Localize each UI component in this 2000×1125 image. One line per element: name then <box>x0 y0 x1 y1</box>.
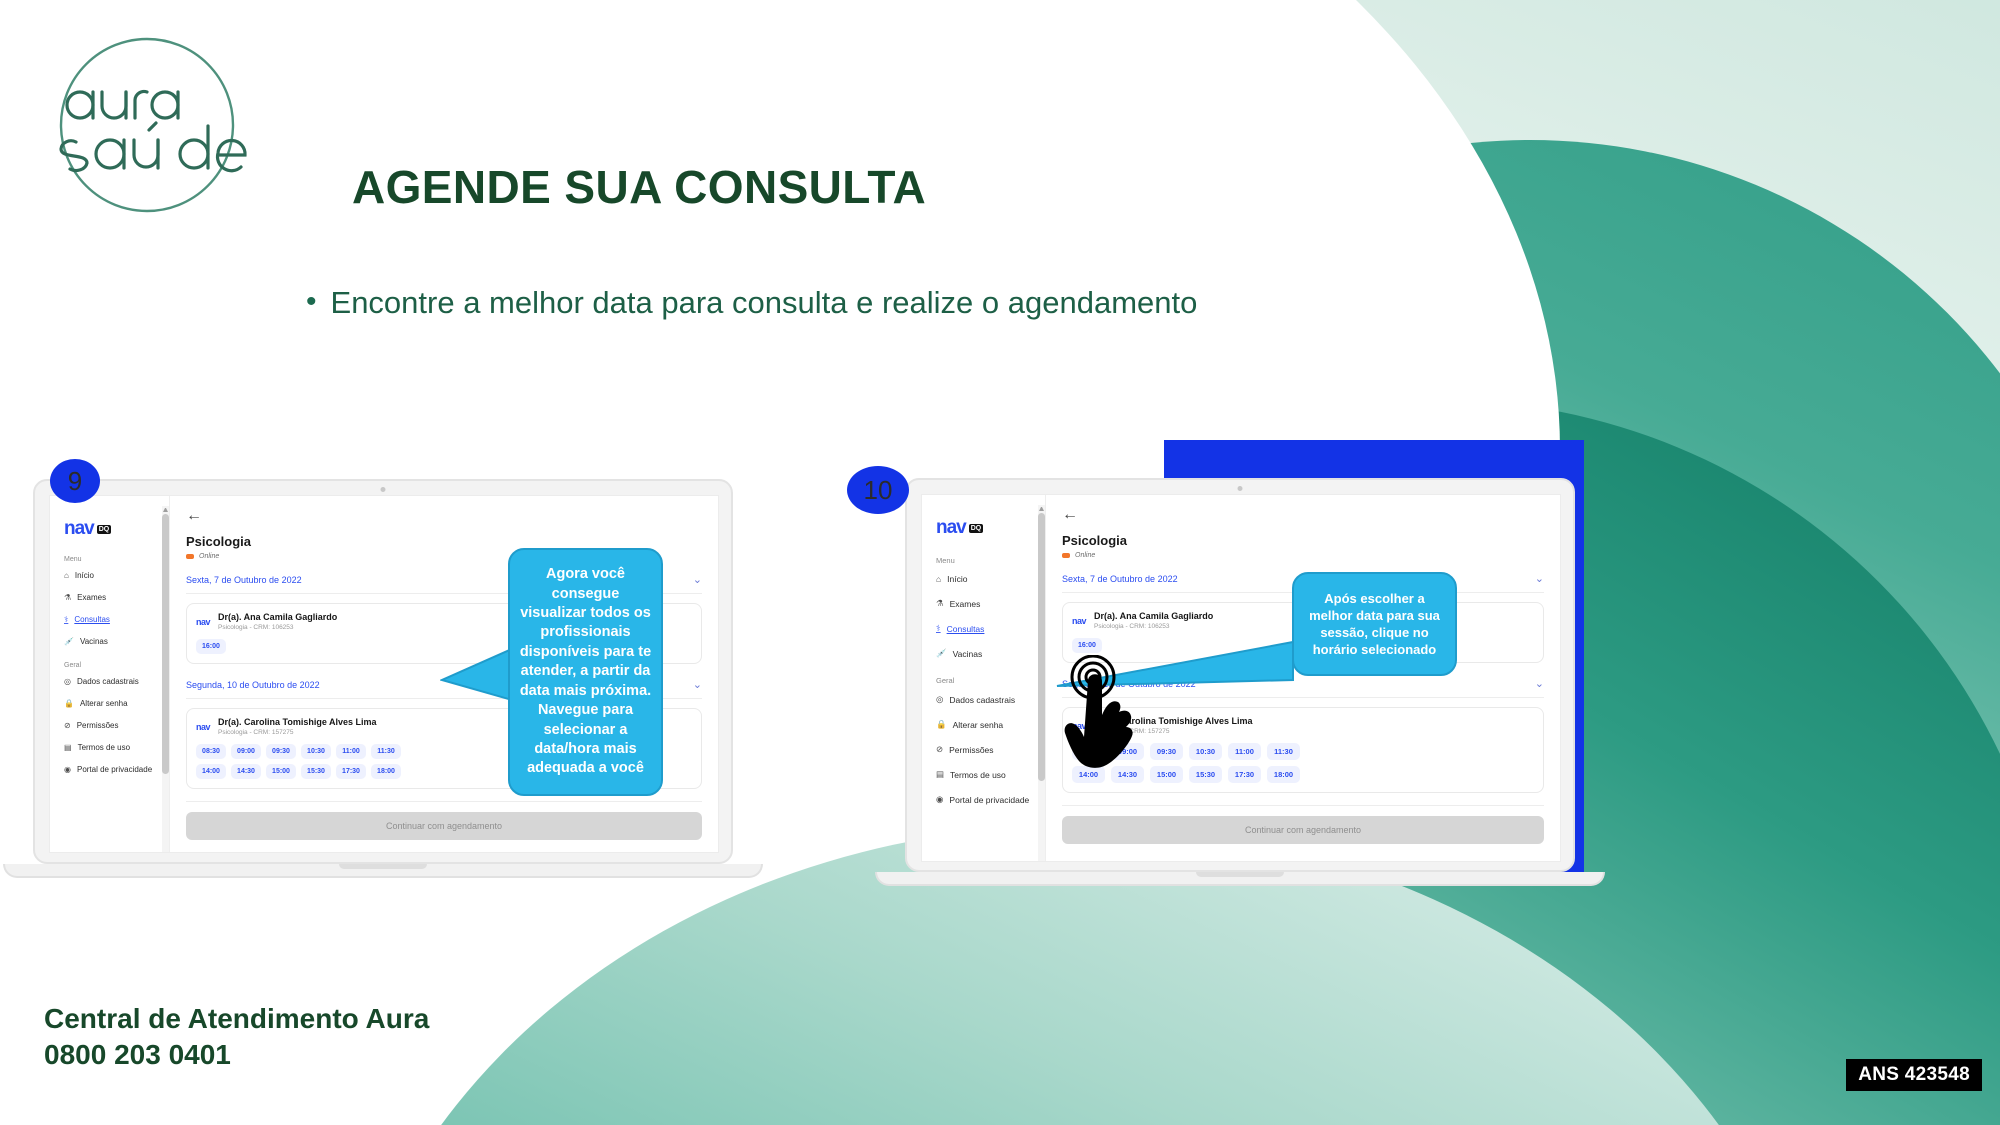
time-slot[interactable]: 18:00 <box>371 764 401 779</box>
check-circle-icon: ⊘ <box>64 721 71 730</box>
lock-icon: 🔒 <box>64 699 74 708</box>
sidebar-item-label: Vacinas <box>80 637 108 646</box>
date-label: Segunda, 10 de Outubro de 2022 <box>186 680 320 690</box>
sidebar-item-label: Consultas <box>947 624 985 634</box>
sidebar-item-label: Dados cadastrais <box>949 695 1015 705</box>
laptop-notch <box>339 864 427 869</box>
specialty-title: Psicologia <box>1062 533 1544 548</box>
time-slot[interactable]: 14:00 <box>196 764 226 779</box>
specialty-title: Psicologia <box>186 534 702 549</box>
time-slot[interactable]: 15:30 <box>301 764 331 779</box>
doctor-nav-logo: nav <box>196 722 210 732</box>
lock-icon: 🔒 <box>936 719 947 730</box>
eye-icon: ◉ <box>64 765 71 774</box>
callout-left: Agora você consegue visualizar todos os … <box>508 548 663 796</box>
sidebar-item-label: Vacinas <box>953 649 983 659</box>
nav-logo-text: nav <box>64 518 94 540</box>
footer-line-2: 0800 203 0401 <box>44 1037 429 1073</box>
nav-app-logo: nav DQ <box>936 517 1045 539</box>
doctor-name: Dr(a). Ana Camila Gagliardo <box>218 612 337 622</box>
sidebar-caption-menu: Menu <box>936 556 1045 565</box>
eye-icon: ◉ <box>936 794 943 805</box>
sidebar-item-dados-cadastrais[interactable]: ◎ Dados cadastrais <box>64 677 169 686</box>
time-slot[interactable]: 14:30 <box>231 764 261 779</box>
date-label: Sexta, 7 de Outubro de 2022 <box>186 575 302 585</box>
time-slot[interactable]: 11:00 <box>1228 743 1261 760</box>
sidebar-item-label: Dados cadastrais <box>77 677 139 686</box>
time-slot[interactable]: 11:30 <box>371 744 401 759</box>
time-slot[interactable]: 08:30 <box>196 744 226 759</box>
sidebar-caption-menu: Menu <box>64 556 169 563</box>
bullet-text: Encontre a melhor data para consulta e r… <box>331 285 1198 321</box>
sidebar-item-inicio[interactable]: ⌂ Início <box>64 571 169 580</box>
doctor-detail: Psicologia - CRM: 157275 <box>218 729 377 736</box>
page-title: AGENDE SUA CONSULTA <box>352 160 926 214</box>
user-circle-icon: ◎ <box>936 694 943 705</box>
time-slot[interactable]: 10:30 <box>301 744 331 759</box>
hand-cursor-icon <box>1060 655 1150 785</box>
video-camera-icon <box>186 554 194 559</box>
sidebar-scrollbar[interactable] <box>162 506 169 852</box>
document-icon: ▤ <box>936 769 944 780</box>
doctor-nav-logo: nav <box>196 617 210 627</box>
date-label: Sexta, 7 de Outubro de 2022 <box>1062 574 1178 584</box>
modality-row: Online <box>1062 552 1544 559</box>
sidebar-item-label: Portal de privacidade <box>949 795 1029 805</box>
app-sidebar-right: nav DQ Menu ⌂ Início ⚗ Exames <box>922 495 1046 861</box>
sidebar-item-alterar-senha[interactable]: 🔒 Alterar senha <box>936 719 1045 730</box>
continue-scheduling-button[interactable]: Continuar com agendamento <box>186 812 702 840</box>
back-arrow-icon[interactable]: ← <box>186 508 702 524</box>
doctor-detail: Psicologia - CRM: 106253 <box>1094 623 1213 630</box>
section-divider <box>1062 805 1544 806</box>
sidebar-item-label: Exames <box>950 599 981 609</box>
sidebar-item-label: Início <box>75 571 94 580</box>
sidebar-item-vacinas[interactable]: 💉 Vacinas <box>64 637 169 646</box>
sidebar-item-label: Alterar senha <box>953 720 1004 730</box>
webcam-dot <box>1238 486 1243 491</box>
home-icon: ⌂ <box>64 571 69 580</box>
check-circle-icon: ⊘ <box>936 744 943 755</box>
aura-saude-logo <box>36 30 258 226</box>
slide-content: AGENDE SUA CONSULTA • Encontre a melhor … <box>0 0 2000 1125</box>
time-slot[interactable]: 15:00 <box>1150 766 1183 783</box>
sidebar-item-label: Portal de privacidade <box>77 765 152 774</box>
sidebar-item-label: Termos de uso <box>78 743 130 752</box>
scroll-up-arrow-icon[interactable] <box>163 508 168 512</box>
sidebar-item-label: Alterar senha <box>80 699 128 708</box>
sidebar-item-consultas[interactable]: ⚕ Consultas <box>936 623 1045 634</box>
callout-right: Após escolher a melhor data para sua ses… <box>1292 572 1457 676</box>
webcam-dot <box>381 487 386 492</box>
nav-logo-mark: DQ <box>97 525 112 534</box>
time-slot[interactable]: 17:30 <box>336 764 366 779</box>
app-sidebar-left: nav DQ Menu ⌂ Início ⚗ Exames <box>50 496 170 852</box>
time-slot[interactable]: 11:00 <box>336 744 366 759</box>
sidebar-scrollbar[interactable] <box>1038 505 1045 861</box>
modality-label: Online <box>1075 552 1095 559</box>
laptop-base <box>875 872 1605 886</box>
sidebar-item-alterar-senha[interactable]: 🔒 Alterar senha <box>64 699 169 708</box>
time-slot[interactable]: 10:30 <box>1189 743 1222 760</box>
sidebar-item-label: Termos de uso <box>950 770 1006 780</box>
sidebar-caption-geral: Geral <box>64 662 169 669</box>
footer-contact: Central de Atendimento Aura 0800 203 040… <box>44 1001 429 1073</box>
step-badge-9: 9 <box>50 459 100 503</box>
chevron-down-icon[interactable]: ⌄ <box>693 678 702 691</box>
sidebar-item-consultas[interactable]: ⚕ Consultas <box>64 615 169 624</box>
bullet-line: • Encontre a melhor data para consulta e… <box>306 285 1197 321</box>
footer-line-1: Central de Atendimento Aura <box>44 1001 429 1037</box>
sidebar-caption-geral: Geral <box>936 676 1045 685</box>
home-icon: ⌂ <box>936 574 941 584</box>
sidebar-item-exames[interactable]: ⚗ Exames <box>936 598 1045 609</box>
sidebar-item-label: Início <box>947 574 967 584</box>
doctor-nav-logo: nav <box>1072 616 1086 626</box>
time-slot[interactable]: 16:00 <box>196 639 226 654</box>
nav-logo-mark: DQ <box>969 524 984 533</box>
flask-icon: ⚗ <box>64 593 71 602</box>
syringe-icon: 💉 <box>64 637 74 646</box>
document-icon: ▤ <box>64 743 72 752</box>
bullet-marker-icon: • <box>306 287 317 317</box>
nav-app-logo: nav DQ <box>64 518 169 540</box>
sidebar-item-termos-de-uso[interactable]: ▤ Termos de uso <box>936 769 1045 780</box>
sidebar-item-exames[interactable]: ⚗ Exames <box>64 593 169 602</box>
chevron-down-icon[interactable]: ⌄ <box>693 573 702 586</box>
ans-badge: ANS 423548 <box>1846 1059 1982 1091</box>
doctor-name: Dr(a). Ana Camila Gagliardo <box>1094 611 1213 621</box>
time-slot[interactable]: 18:00 <box>1267 766 1300 783</box>
flask-icon: ⚗ <box>936 598 944 609</box>
laptop-base <box>3 864 763 878</box>
sidebar-item-permissoes[interactable]: ⊘ Permissões <box>64 721 169 730</box>
sidebar-item-termos-de-uso[interactable]: ▤ Termos de uso <box>64 743 169 752</box>
time-slot[interactable]: 09:00 <box>231 744 261 759</box>
sidebar-item-permissoes[interactable]: ⊘ Permissões <box>936 744 1045 755</box>
nav-logo-text: nav <box>936 517 966 539</box>
scrollbar-thumb[interactable] <box>1038 513 1045 781</box>
sidebar-item-label: Permissões <box>77 721 119 730</box>
section-divider <box>186 801 702 802</box>
scroll-up-arrow-icon[interactable] <box>1039 507 1044 511</box>
modality-label: Online <box>199 553 219 560</box>
continue-scheduling-button[interactable]: Continuar com agendamento <box>1062 816 1544 844</box>
sidebar-item-portal-privacidade[interactable]: ◉ Portal de privacidade <box>936 794 1045 805</box>
sidebar-item-inicio[interactable]: ⌂ Início <box>936 574 1045 584</box>
syringe-icon: 💉 <box>936 648 947 659</box>
video-camera-icon <box>1062 553 1070 558</box>
time-slot[interactable]: 11:30 <box>1267 743 1300 760</box>
sidebar-item-label: Exames <box>77 593 106 602</box>
stethoscope-icon: ⚕ <box>936 623 941 634</box>
doctor-detail: Psicologia - CRM: 106253 <box>218 624 337 631</box>
slot-grid-2: 08:30 09:00 09:30 10:30 11:00 11:30 14:0… <box>196 744 406 779</box>
sidebar-item-vacinas[interactable]: 💉 Vacinas <box>936 648 1045 659</box>
sidebar-item-portal-privacidade[interactable]: ◉ Portal de privacidade <box>64 765 169 774</box>
sidebar-item-dados-cadastrais[interactable]: ◎ Dados cadastrais <box>936 694 1045 705</box>
sidebar-item-label: Consultas <box>74 615 110 624</box>
time-slot[interactable]: 09:30 <box>1150 743 1183 760</box>
step-badge-10: 10 <box>847 466 909 514</box>
stethoscope-icon: ⚕ <box>64 615 68 624</box>
chevron-down-icon[interactable]: ⌄ <box>1535 677 1544 690</box>
user-circle-icon: ◎ <box>64 677 71 686</box>
scrollbar-thumb[interactable] <box>162 514 169 774</box>
time-slot[interactable]: 17:30 <box>1228 766 1261 783</box>
back-arrow-icon[interactable]: ← <box>1062 507 1544 523</box>
chevron-down-icon[interactable]: ⌄ <box>1535 572 1544 585</box>
time-slot[interactable]: 15:30 <box>1189 766 1222 783</box>
time-slot[interactable]: 15:00 <box>266 764 296 779</box>
sidebar-item-label: Permissões <box>949 745 993 755</box>
time-slot[interactable]: 09:30 <box>266 744 296 759</box>
laptop-notch <box>1196 872 1284 877</box>
doctor-name: Dr(a). Carolina Tomishige Alves Lima <box>218 717 377 727</box>
